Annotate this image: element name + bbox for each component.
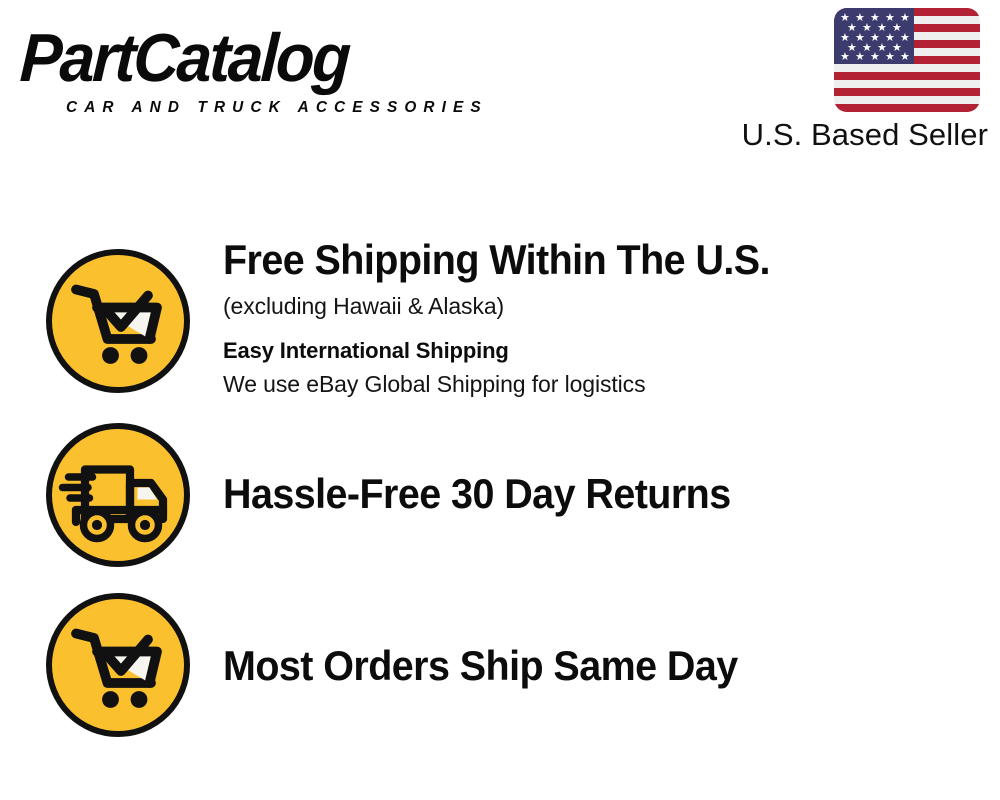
benefit-item-returns: Hassle-Free 30 Day Returns — [0, 406, 1000, 582]
benefit-secondary-note: We use eBay Global Shipping for logistic… — [223, 368, 645, 400]
shopping-cart-check-icon — [43, 590, 193, 740]
benefit-title: Free Shipping Within The U.S. — [223, 234, 770, 286]
benefits-list: Free Shipping Within The U.S. (excluding… — [0, 0, 1000, 800]
benefit-item-same-day-shipping: Most Orders Ship Same Day — [0, 576, 1000, 754]
benefit-secondary-title: Easy International Shipping — [223, 336, 509, 366]
benefit-title: Hassle-Free 30 Day Returns — [223, 468, 731, 520]
benefit-note: (excluding Hawaii & Alaska) — [223, 290, 504, 322]
shopping-cart-check-icon — [43, 246, 193, 396]
benefit-title: Most Orders Ship Same Day — [223, 640, 738, 692]
benefit-item-free-shipping: Free Shipping Within The U.S. (excluding… — [0, 232, 1000, 412]
delivery-truck-icon — [43, 420, 193, 570]
